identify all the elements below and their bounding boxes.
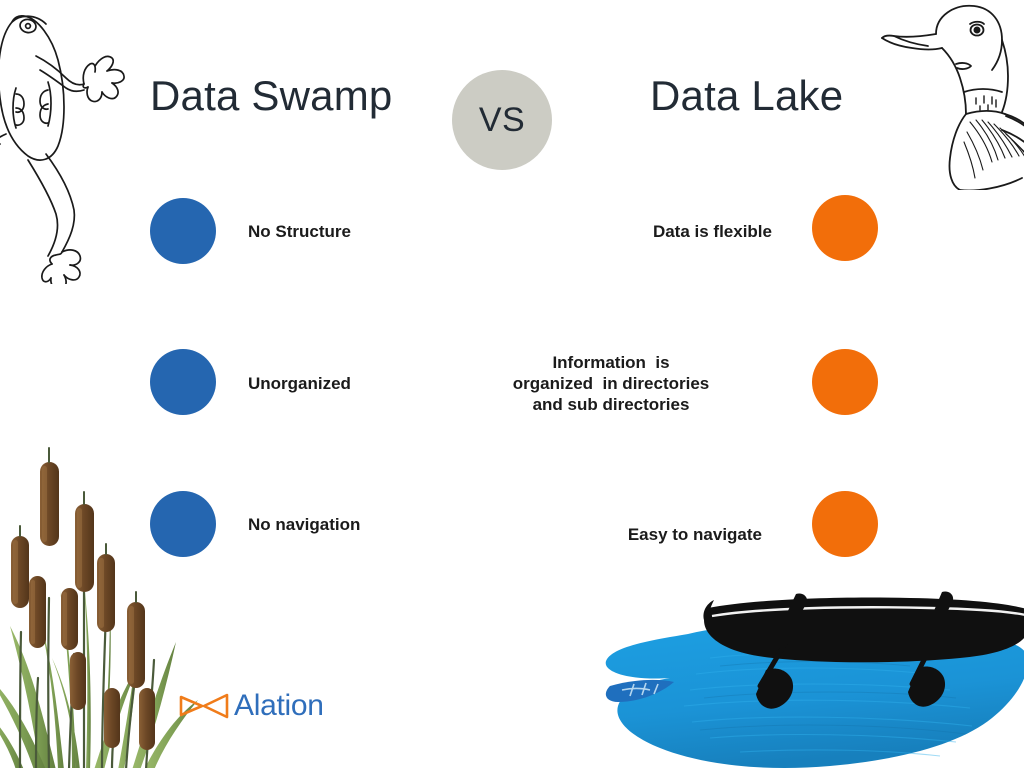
bullet-label-right-3: Easy to navigate: [420, 524, 762, 545]
bullet-label-left-1: No Structure: [248, 221, 351, 242]
alation-bowtie-icon: [178, 691, 230, 721]
bullet-dot-right-1: [812, 195, 878, 261]
alation-logo: Alation: [178, 686, 328, 726]
bullet-dot-left-1: [150, 198, 216, 264]
bullet-label-left-2: Unorganized: [248, 373, 351, 394]
vs-badge: VS: [452, 70, 552, 170]
bullet-label-right-2: Information is organized in directories …: [450, 352, 772, 415]
bullet-dot-left-2: [150, 349, 216, 415]
alation-logo-text: Alation: [234, 689, 324, 723]
cattails-illustration: [0, 440, 204, 768]
frog-illustration: [0, 0, 146, 284]
lake-canoe-illustration: [600, 578, 1024, 768]
page-title-right: Data Lake: [650, 72, 843, 120]
slide-canvas: Data Swamp Data Lake VS No Structure Uno…: [0, 0, 1024, 768]
bullet-label-left-3: No navigation: [248, 514, 360, 535]
bullet-dot-left-3: [150, 491, 216, 557]
loon-illustration: [872, 0, 1024, 190]
bullet-label-right-1: Data is flexible: [420, 221, 772, 242]
page-title-left: Data Swamp: [150, 72, 392, 120]
bullet-dot-right-2: [812, 349, 878, 415]
vs-label: VS: [479, 101, 525, 140]
bullet-dot-right-3: [812, 491, 878, 557]
